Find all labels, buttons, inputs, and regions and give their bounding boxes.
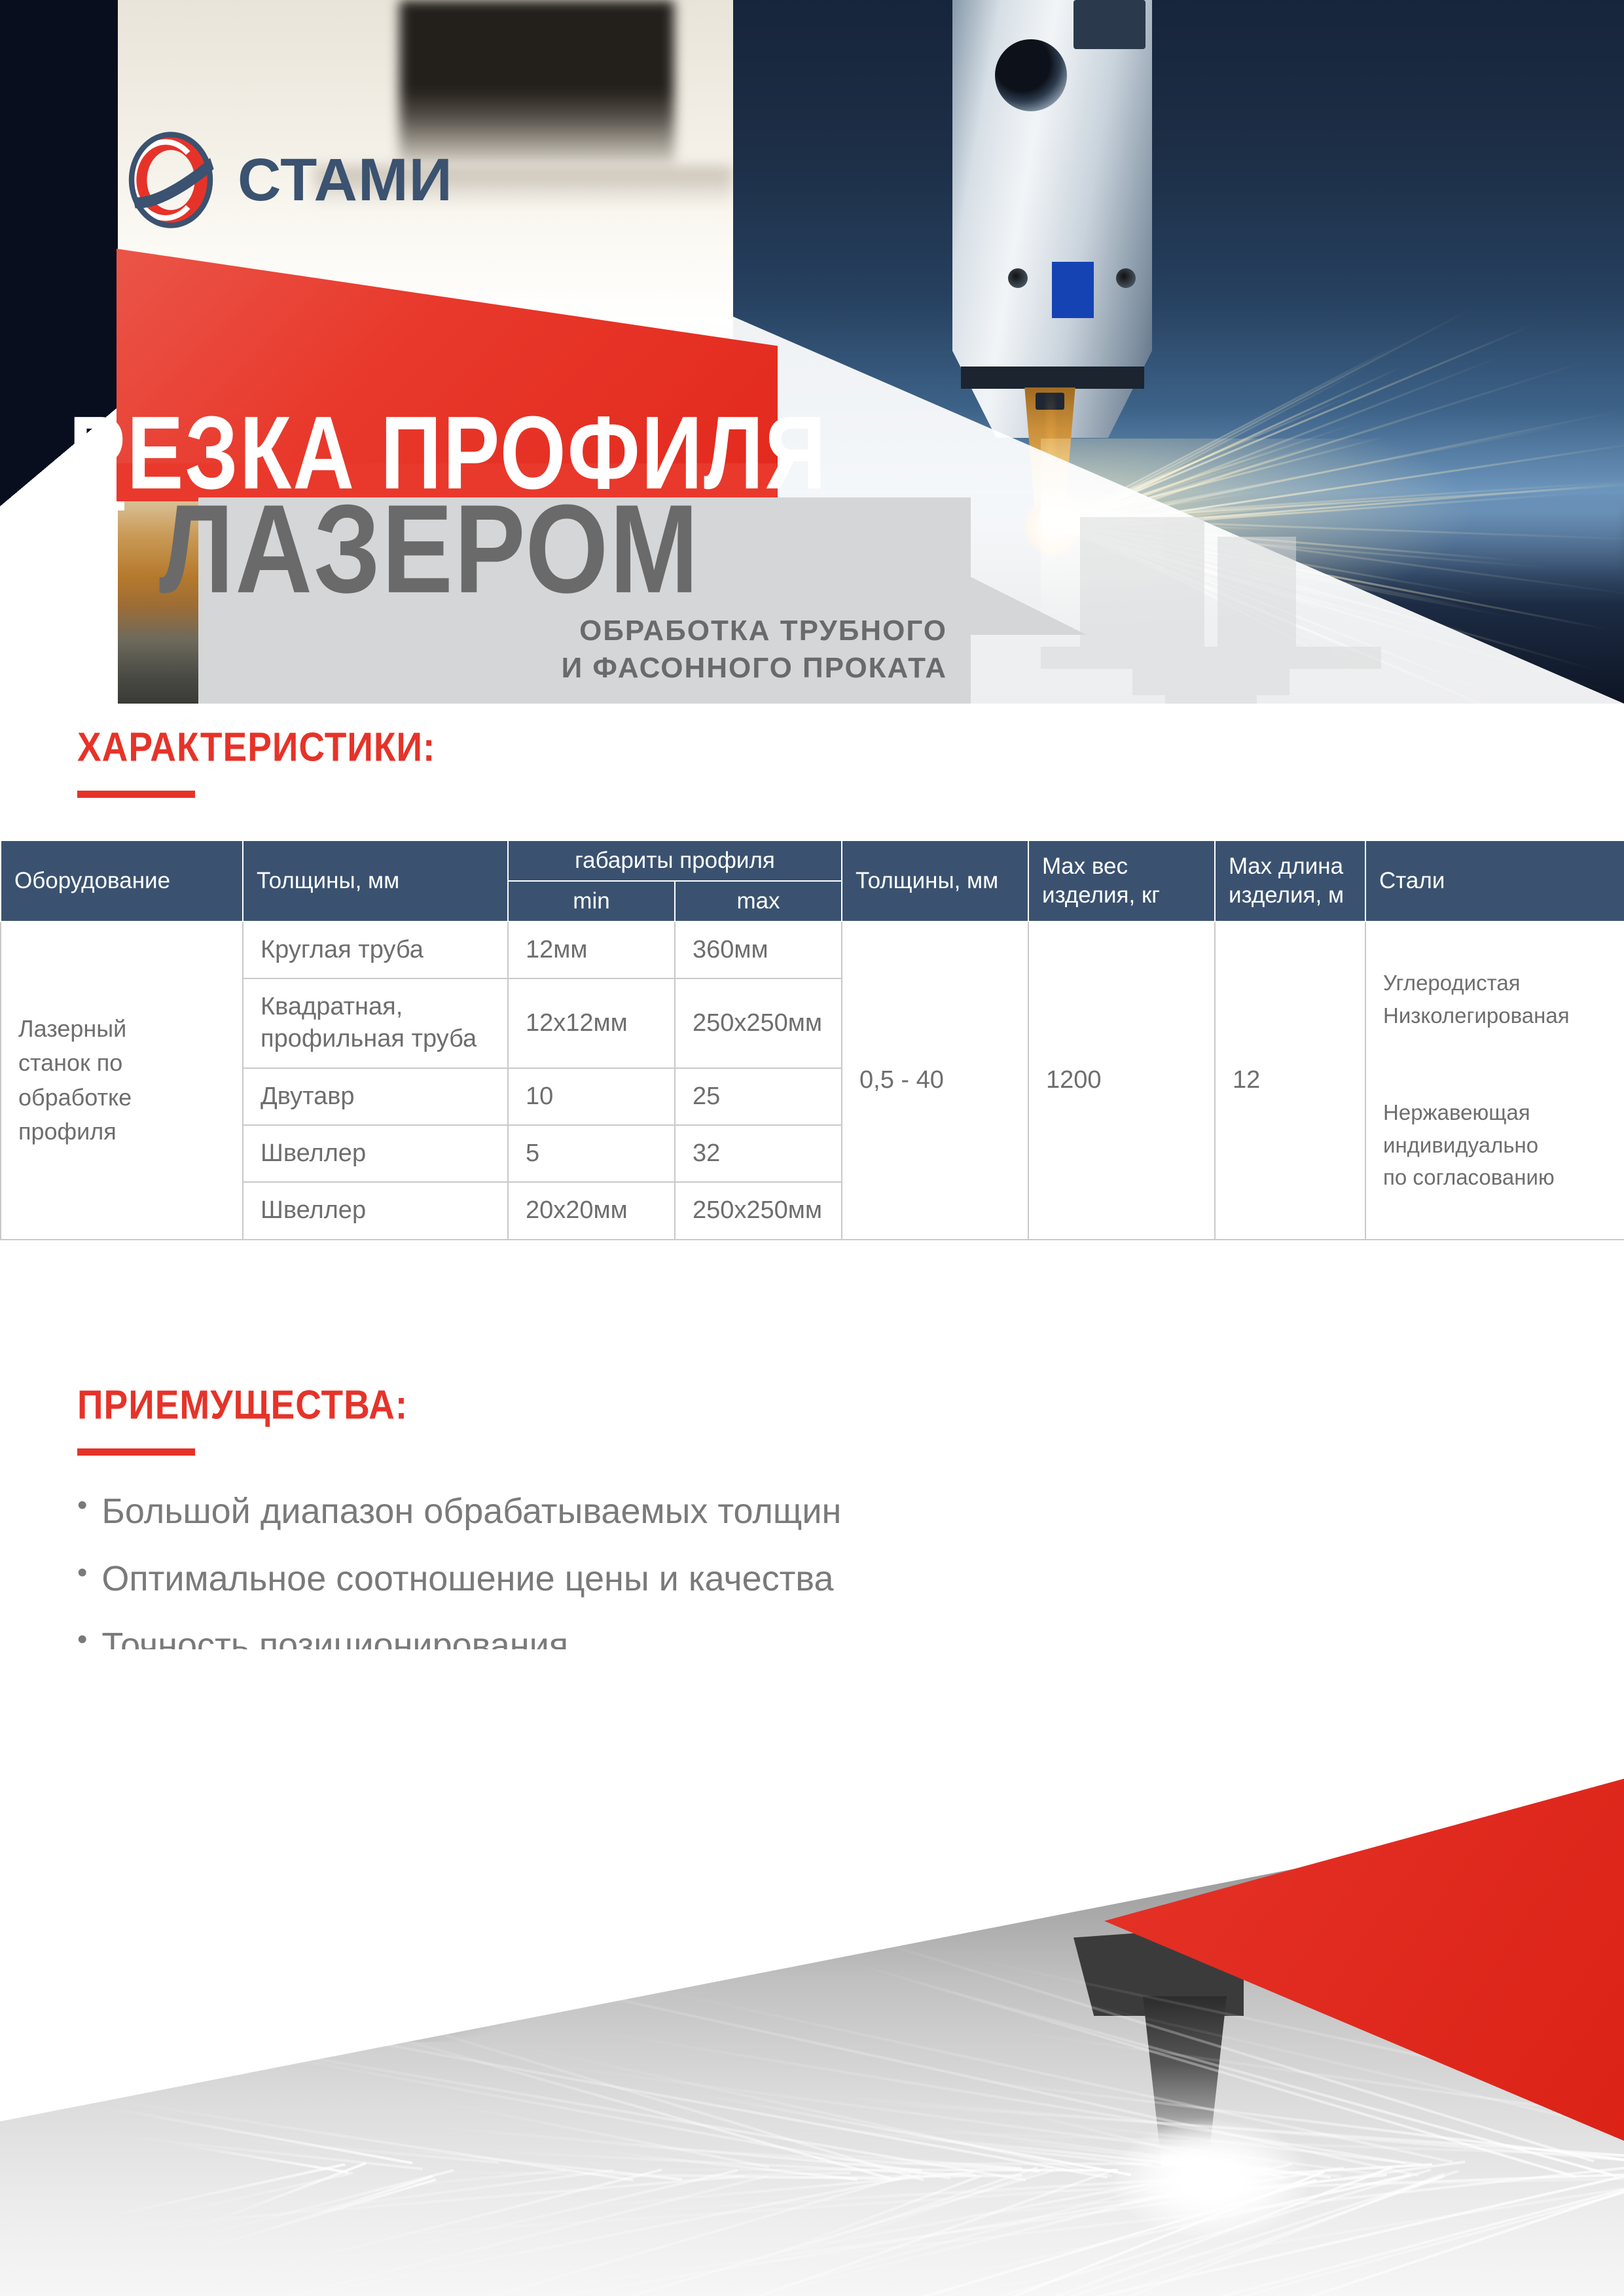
- cell-profile: Швеллер: [243, 1182, 508, 1239]
- laser-head-screw-right: [1116, 268, 1136, 288]
- characteristics-rule: [77, 791, 195, 798]
- stami-ring-logo-icon: [121, 131, 221, 229]
- cell-min: 12мм: [508, 922, 675, 978]
- advantage-text: Большой диапазон обрабатываемых толщин: [101, 1478, 841, 1545]
- laser-head-chip: [1074, 0, 1146, 49]
- th-max-length: Max длина изделия, м: [1215, 840, 1365, 922]
- cell-min: 10: [508, 1068, 675, 1125]
- th-equipment: Оборудование: [1, 840, 243, 922]
- th-max-length-l2: изделия, м: [1229, 882, 1344, 908]
- laser-head-lens-icon: [995, 39, 1067, 111]
- bullet-icon: •: [77, 1545, 87, 1600]
- cell-steels: УглеродистаяНизколегированаяНержавеющаяи…: [1365, 922, 1624, 1240]
- th-max-weight-l2: изделия, кг: [1042, 882, 1160, 908]
- table-row: Лазерныйстанок пообработкепрофиляКруглая…: [1, 922, 1624, 978]
- th-max: max: [675, 881, 842, 922]
- characteristics-heading: ХАРАКТЕРИСТИКИ:: [77, 723, 435, 770]
- th-min: min: [508, 881, 675, 922]
- cell-min: 20x20мм: [508, 1182, 675, 1239]
- cell-max: 250x250мм: [675, 1182, 842, 1239]
- cell-max: 25: [675, 1068, 842, 1125]
- cell-min: 12x12мм: [508, 978, 675, 1068]
- th-profile-dimensions: габариты профиля: [508, 840, 842, 881]
- advantages-heading: ПРИЕМУЩЕСТВА:: [77, 1381, 408, 1428]
- table-header-row: Оборудование Толщины, мм габариты профил…: [1, 840, 1624, 881]
- hero-banner: СТАМИ РЕЗКА ПРОФИЛЯ ЛАЗЕРОМ ОБРАБОТКА ТР…: [0, 0, 1624, 704]
- hero-subtitle-line2: И ФАСОННОГО ПРОКАТА: [430, 649, 947, 687]
- advantages-rule: [77, 1448, 195, 1456]
- cell-max-length: 12: [1215, 922, 1365, 1240]
- cell-profile: Круглая труба: [243, 922, 508, 978]
- hero-dark-left-bar: [0, 0, 118, 452]
- th-thickness-sheet: Толщины, мм: [842, 840, 1028, 922]
- cell-equipment: Лазерныйстанок пообработкепрофиля: [1, 922, 243, 1240]
- th-steels: Стали: [1365, 840, 1624, 922]
- th-max-weight-l1: Max вес: [1042, 853, 1128, 879]
- hero-title-line2: ЛАЗЕРОМ: [159, 486, 700, 611]
- cell-profile: Швеллер: [243, 1125, 508, 1182]
- advantage-item: •Оптимальное соотношение цены и качества: [77, 1545, 1190, 1613]
- cell-profile: Квадратная,профильная труба: [243, 978, 508, 1068]
- cell-max-weight: 1200: [1028, 922, 1215, 1240]
- laser-head-screw-left: [1008, 268, 1028, 288]
- bullet-icon: •: [77, 1478, 87, 1533]
- cell-max: 360мм: [675, 922, 842, 978]
- cell-min: 5: [508, 1125, 675, 1182]
- th-max-weight: Max вес изделия, кг: [1028, 840, 1215, 922]
- hero-subtitle: ОБРАБОТКА ТРУБНОГО И ФАСОННОГО ПРОКАТА: [430, 612, 947, 687]
- cell-profile: Двутавр: [243, 1068, 508, 1125]
- laser-head-collar: [961, 367, 1144, 389]
- advantage-text: Оптимальное соотношение цены и качества: [101, 1545, 833, 1613]
- brand-logo[interactable]: СТАМИ: [121, 131, 540, 229]
- cell-max: 32: [675, 1125, 842, 1182]
- footer-image: [0, 1649, 1624, 2296]
- laser-head-blue-label: [1052, 262, 1094, 318]
- brand-name: СТАМИ: [238, 150, 453, 210]
- th-thickness-profile: Толщины, мм: [243, 840, 508, 922]
- th-max-length-l1: Max длина: [1229, 853, 1343, 879]
- specifications-table: Оборудование Толщины, мм габариты профил…: [0, 840, 1624, 1240]
- cell-max: 250x250мм: [675, 978, 842, 1068]
- hero-subtitle-line1: ОБРАБОТКА ТРУБНОГО: [430, 612, 947, 649]
- table-body: Лазерныйстанок пообработкепрофиляКруглая…: [1, 922, 1624, 1240]
- cell-thickness-sheet: 0,5 - 40: [842, 922, 1028, 1240]
- advantage-item: •Большой диапазон обрабатываемых толщин: [77, 1478, 1190, 1545]
